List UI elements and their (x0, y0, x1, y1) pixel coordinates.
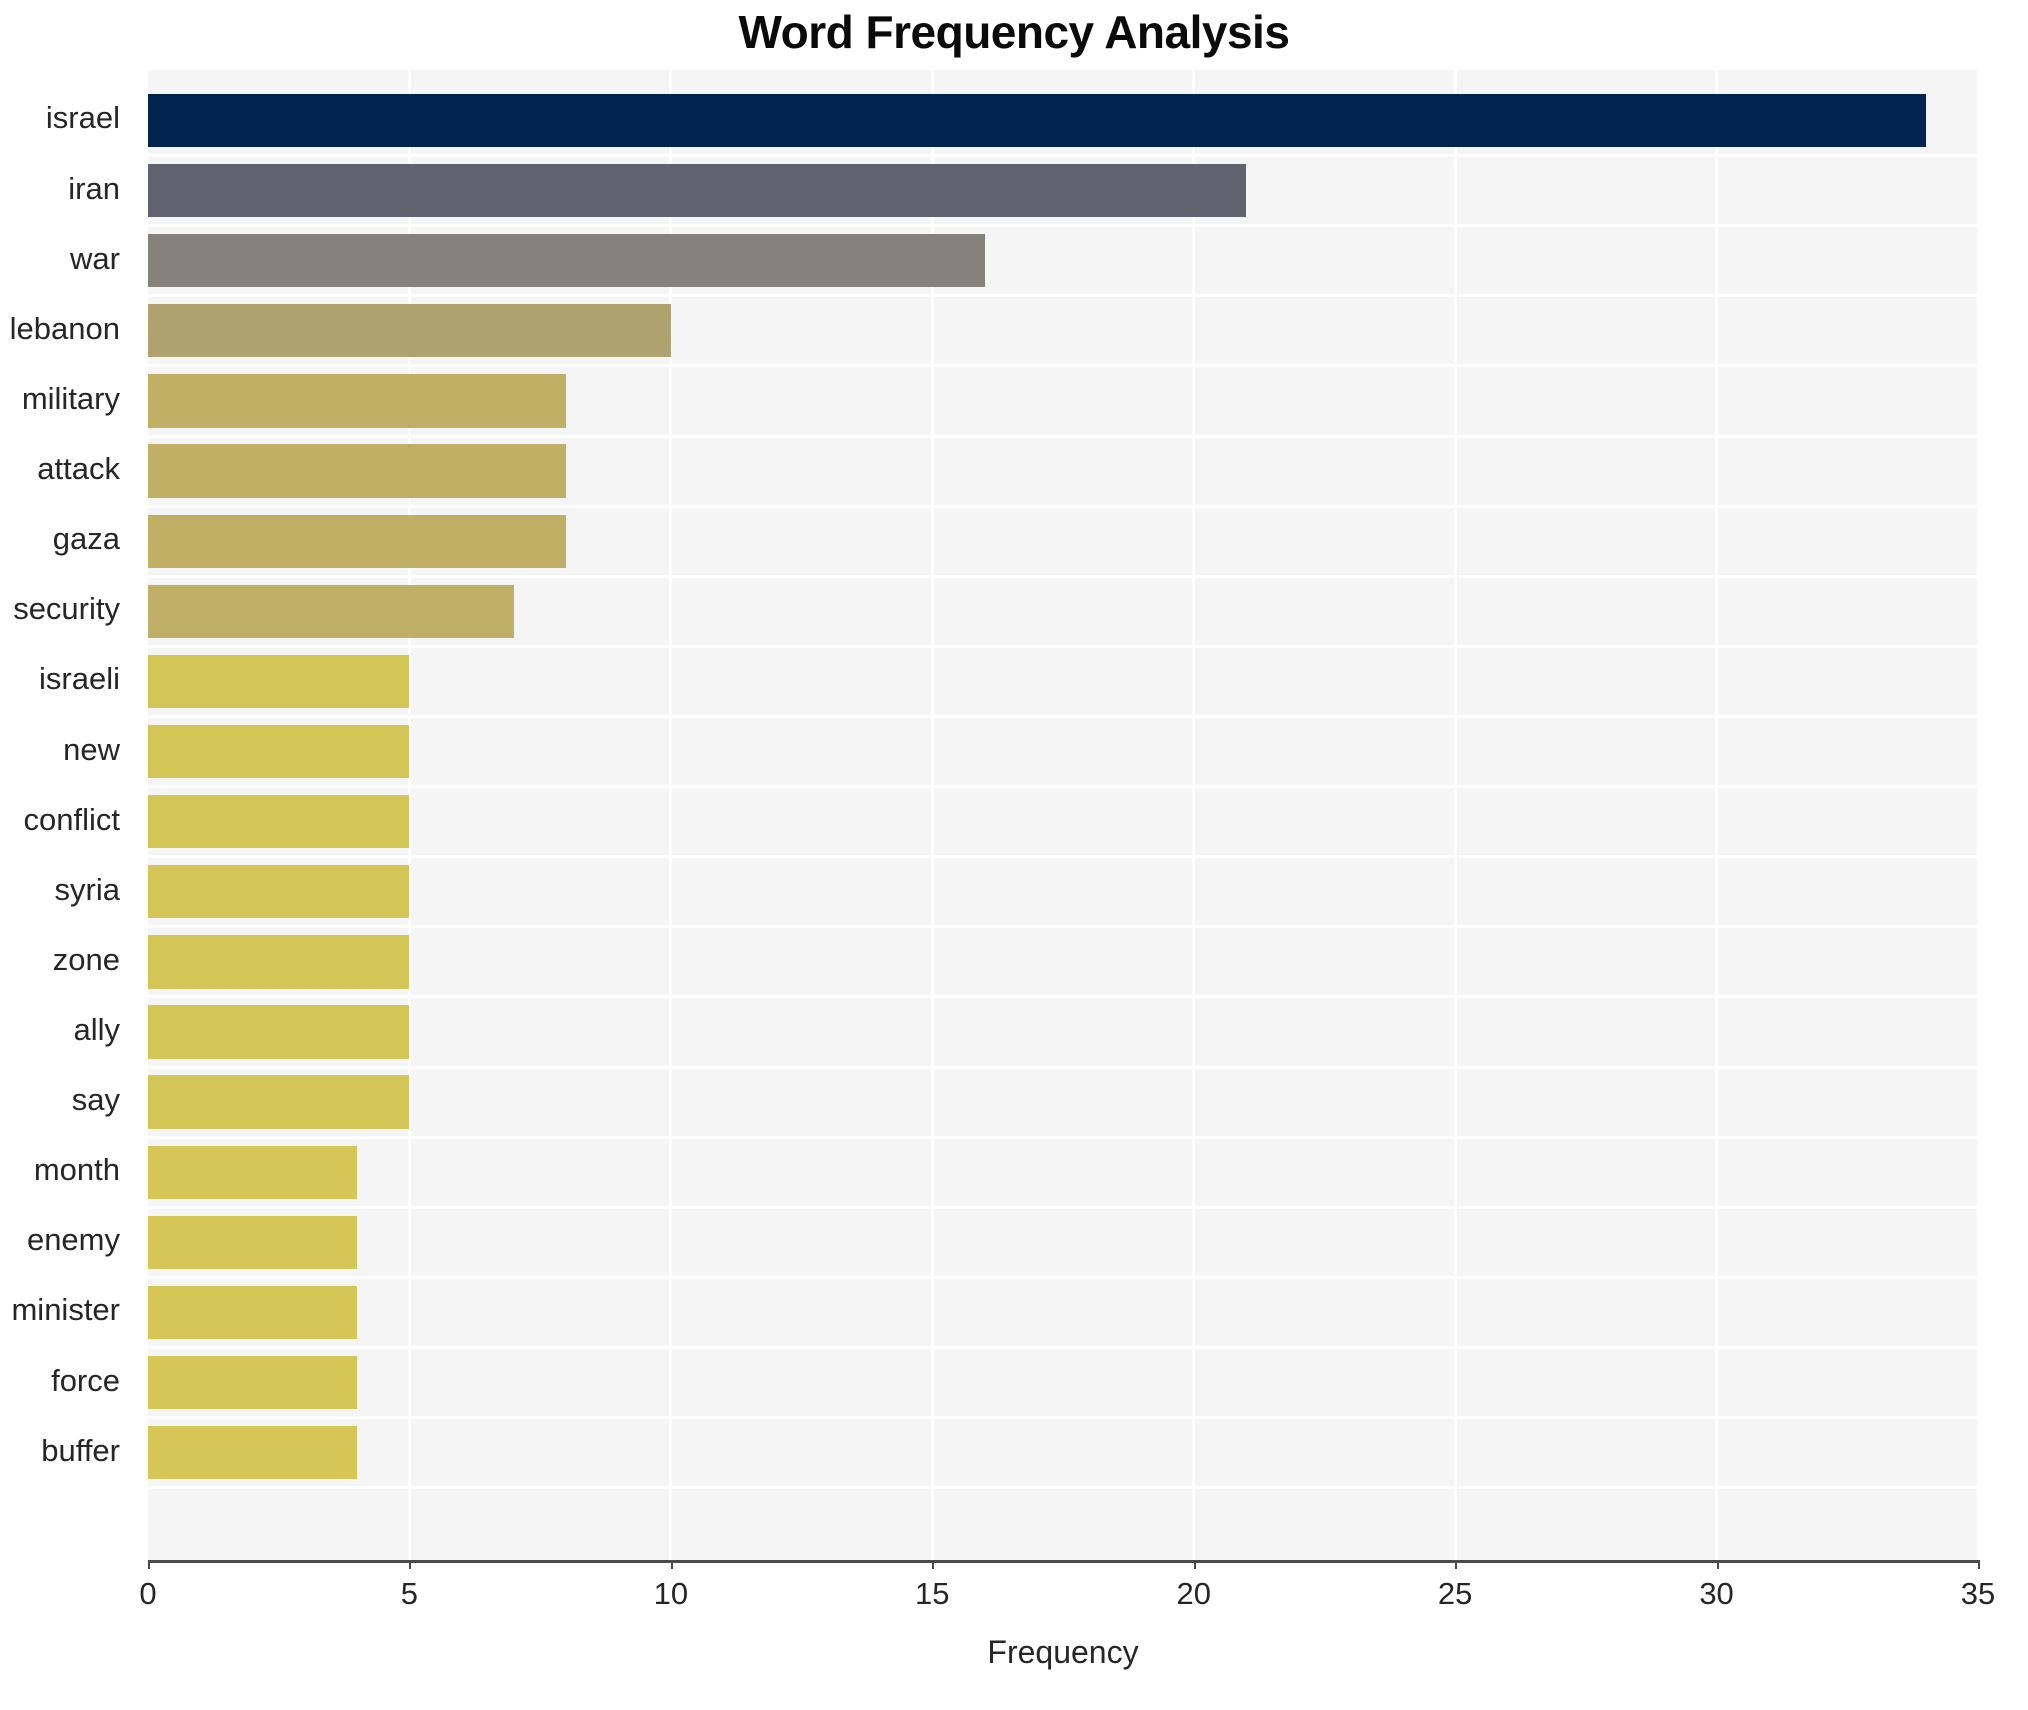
x-tick-label-20: 20 (1134, 1576, 1254, 1612)
y-axis-label-israeli: israeli (0, 661, 134, 697)
x-tick-mark-25 (1455, 1560, 1457, 1569)
bar-attack[interactable] (148, 444, 566, 497)
chart-title: Word Frequency Analysis (0, 4, 2028, 60)
y-axis-label-buffer: buffer (0, 1433, 134, 1469)
y-axis-label-enemy: enemy (0, 1222, 134, 1258)
bar-buffer[interactable] (148, 1426, 357, 1479)
x-tick-label-15: 15 (872, 1576, 992, 1612)
y-axis-category-labels: israeliranwarlebanonmilitaryattackgazase… (0, 70, 134, 1560)
word-frequency-bar-chart: Word Frequency Analysis israeliranwarleb… (0, 0, 2028, 1710)
x-tick-mark-10 (671, 1560, 673, 1569)
bar-conflict[interactable] (148, 795, 409, 848)
x-tick-label-25: 25 (1395, 1576, 1515, 1612)
x-axis-title: Frequency (148, 1634, 1978, 1671)
y-axis-label-iran: iran (0, 171, 134, 207)
y-axis-label-zone: zone (0, 942, 134, 978)
y-axis-label-military: military (0, 381, 134, 417)
bar-security[interactable] (148, 585, 514, 638)
bars-layer (148, 70, 1978, 1560)
bar-war[interactable] (148, 234, 985, 287)
bar-new[interactable] (148, 725, 409, 778)
y-axis-label-conflict: conflict (0, 802, 134, 838)
x-tick-mark-15 (932, 1560, 934, 1569)
bar-ally[interactable] (148, 1005, 409, 1058)
bar-enemy[interactable] (148, 1216, 357, 1269)
bar-israeli[interactable] (148, 655, 409, 708)
y-axis-label-month: month (0, 1152, 134, 1188)
y-axis-label-minister: minister (0, 1292, 134, 1328)
y-axis-label-attack: attack (0, 451, 134, 487)
x-tick-mark-0 (148, 1560, 150, 1569)
y-axis-label-lebanon: lebanon (0, 311, 134, 347)
bar-zone[interactable] (148, 935, 409, 988)
bar-lebanon[interactable] (148, 304, 671, 357)
bar-say[interactable] (148, 1075, 409, 1128)
x-axis-line (148, 1560, 1978, 1563)
x-tick-label-35: 35 (1918, 1576, 2028, 1612)
bar-gaza[interactable] (148, 515, 566, 568)
plot-area (148, 70, 1978, 1560)
x-tick-label-10: 10 (611, 1576, 731, 1612)
bar-force[interactable] (148, 1356, 357, 1409)
y-axis-label-syria: syria (0, 872, 134, 908)
bar-syria[interactable] (148, 865, 409, 918)
y-axis-label-ally: ally (0, 1012, 134, 1048)
x-tick-mark-5 (409, 1560, 411, 1569)
y-axis-label-gaza: gaza (0, 521, 134, 557)
bar-minister[interactable] (148, 1286, 357, 1339)
x-tick-label-0: 0 (88, 1576, 208, 1612)
bar-israel[interactable] (148, 94, 1926, 147)
x-tick-label-5: 5 (349, 1576, 469, 1612)
y-axis-label-israel: israel (0, 100, 134, 136)
bar-month[interactable] (148, 1146, 357, 1199)
x-tick-mark-35 (1978, 1560, 1980, 1569)
y-axis-label-war: war (0, 241, 134, 277)
x-tick-mark-30 (1717, 1560, 1719, 1569)
bar-iran[interactable] (148, 164, 1246, 217)
y-axis-label-force: force (0, 1363, 134, 1399)
x-tick-label-30: 30 (1657, 1576, 1777, 1612)
y-axis-label-new: new (0, 732, 134, 768)
y-axis-label-security: security (0, 591, 134, 627)
bar-military[interactable] (148, 374, 566, 427)
x-tick-mark-20 (1194, 1560, 1196, 1569)
y-axis-label-say: say (0, 1082, 134, 1118)
